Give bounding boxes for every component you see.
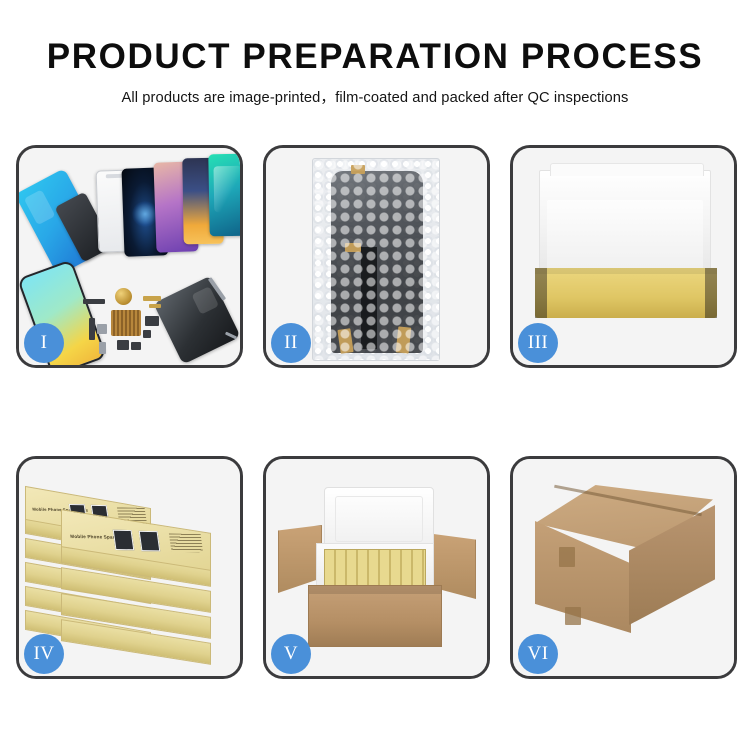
sim-tray-part (99, 342, 106, 354)
foam-cooler-lid (324, 487, 434, 551)
chip-grid-part (111, 310, 141, 336)
carton-tape-lower (565, 607, 581, 625)
process-step-5[interactable]: V (263, 456, 490, 679)
screen-flex-cable (361, 247, 377, 349)
battery-connector-part (83, 299, 105, 304)
step-badge-1: I (24, 323, 64, 363)
process-step-6[interactable]: VI (510, 456, 737, 679)
carton-tape-upper (559, 547, 575, 567)
tape-top (351, 165, 365, 174)
process-step-1[interactable]: I (16, 145, 243, 368)
box-flap-left (535, 268, 547, 318)
page-subtitle: All products are image-printed，film-coat… (0, 86, 750, 107)
step-badge-4: IV (24, 634, 64, 674)
process-step-2[interactable]: II (263, 145, 490, 368)
flex-cable-part (89, 318, 95, 340)
front-label-window-1 (113, 530, 135, 551)
process-step-grid: I II III (16, 145, 737, 679)
step-badge-5: V (271, 634, 311, 674)
front-label-spec-lines (169, 534, 203, 553)
camera-module-part (145, 316, 159, 326)
lcd-screen-inside (331, 171, 423, 353)
tape-bottom-right (396, 326, 412, 353)
box-flap-right (705, 268, 717, 318)
teal-gradient-phone (208, 154, 240, 237)
front-label-window-2 (139, 531, 161, 552)
header: PRODUCT PREPARATION PROCESS All products… (0, 0, 750, 107)
metal-bracket-part (97, 324, 107, 334)
phone-back-housing (153, 275, 240, 364)
earpiece-part (131, 342, 141, 350)
page-title: PRODUCT PREPARATION PROCESS (0, 38, 750, 76)
step-badge-3: III (518, 323, 558, 363)
process-step-4[interactable]: Mobile Phone Spare Parts Mobile Phone Sp… (16, 456, 243, 679)
small-ic-part (143, 330, 151, 338)
gold-flex-part (143, 296, 161, 301)
vibrator-part (117, 340, 129, 350)
step-badge-6: VI (518, 634, 558, 674)
gold-flex-part-2 (149, 304, 161, 308)
speaker-coil-part (115, 288, 132, 305)
white-foam-sheet (547, 200, 703, 272)
bubble-wrap-bag (312, 158, 440, 361)
carton-front-panel (308, 585, 442, 647)
process-step-3[interactable]: III (510, 145, 737, 368)
tape-middle (345, 243, 361, 252)
yellow-box-base (535, 268, 717, 318)
yellow-inner-boxes (324, 549, 426, 589)
step-badge-2: II (271, 323, 311, 363)
